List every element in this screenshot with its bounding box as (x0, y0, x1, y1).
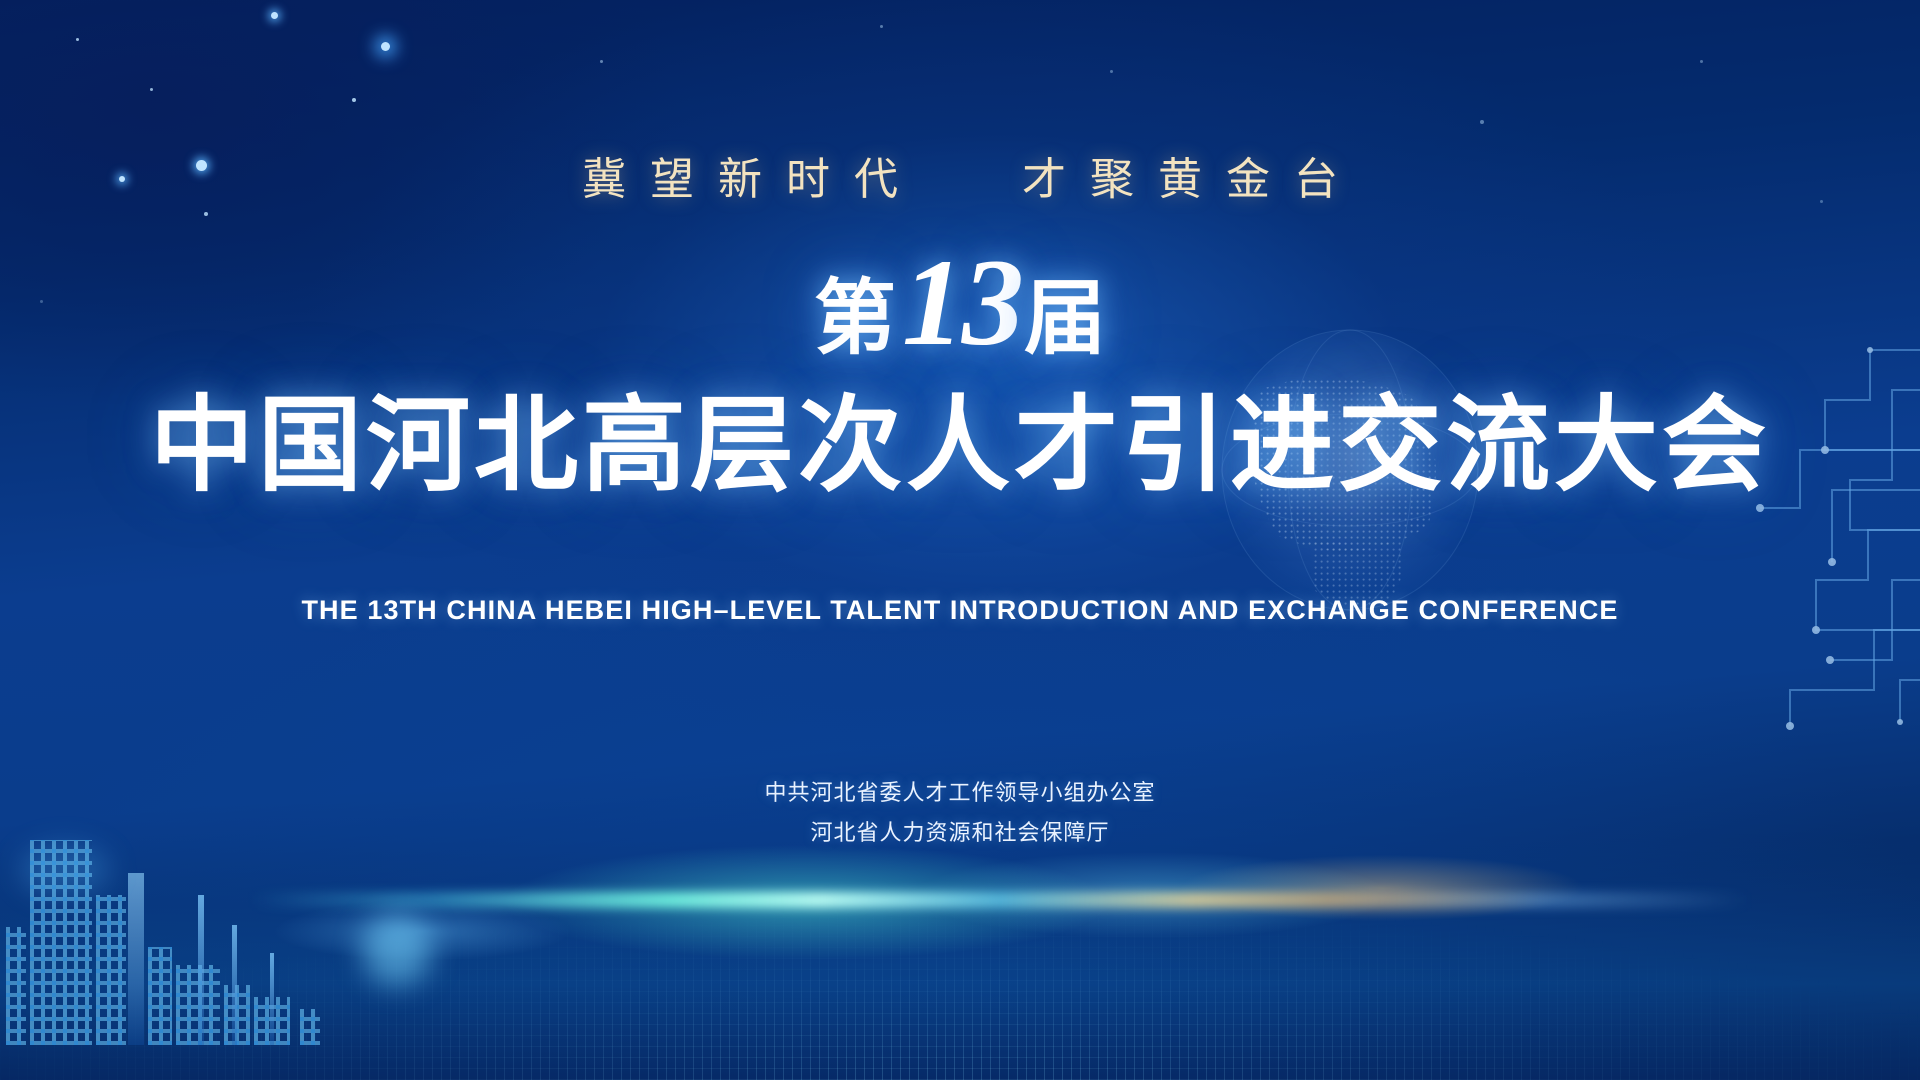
organizer-line-1: 中共河北省委人才工作领导小组办公室 (0, 773, 1920, 813)
edition-line: 第13届 (0, 232, 1920, 374)
edition-suffix: 届 (1024, 273, 1106, 364)
slogan-part-1: 冀望新时代 (582, 155, 922, 204)
text-content: 冀望新时代 才聚黄金台 第13届 中国河北高层次人才引进交流大会 THE 13T… (0, 0, 1920, 1080)
edition-prefix: 第 (814, 273, 896, 364)
organizer-block: 中共河北省委人才工作领导小组办公室 河北省人力资源和社会保障厅 (0, 773, 1920, 853)
edition-number: 13 (902, 234, 1022, 371)
slogan-part-2: 才聚黄金台 (1022, 155, 1362, 204)
poster-canvas: 冀望新时代 才聚黄金台 第13届 中国河北高层次人才引进交流大会 THE 13T… (0, 0, 1920, 1080)
poster-slogan: 冀望新时代 才聚黄金台 (0, 143, 1920, 207)
organizer-line-2: 河北省人力资源和社会保障厅 (0, 813, 1920, 853)
page-subtitle-english: THE 13TH CHINA HEBEI HIGH–LEVEL TALENT I… (0, 595, 1920, 626)
page-title: 中国河北高层次人才引进交流大会 (0, 360, 1920, 511)
